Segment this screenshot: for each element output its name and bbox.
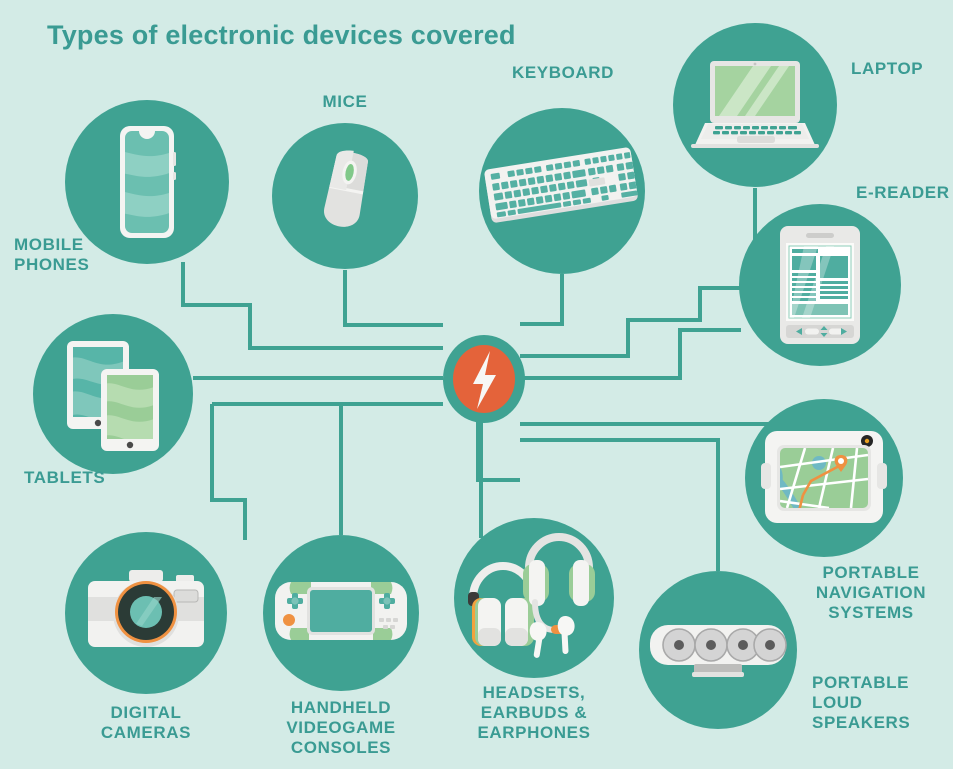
label-loud-speakers: PORTABLE LOUD SPEAKERS — [812, 673, 910, 733]
hub-lightning-bolt-icon — [443, 335, 525, 423]
keyboard-icon — [482, 136, 642, 246]
node-laptop[interactable] — [673, 23, 837, 187]
node-keyboard[interactable] — [479, 108, 645, 274]
node-e-reader[interactable] — [739, 204, 901, 366]
label-mobile-phones: MOBILE PHONES — [14, 235, 89, 275]
label-navigation: PORTABLE NAVIGATION SYSTEMS — [796, 563, 946, 623]
label-headsets: HEADSETS, EARBUDS & EARPHONES — [449, 683, 619, 743]
node-digital-cameras[interactable] — [65, 532, 227, 694]
headphones-icon — [459, 532, 609, 664]
e-reader-icon — [774, 222, 866, 348]
node-navigation[interactable] — [745, 399, 903, 557]
tablets-icon — [53, 335, 173, 453]
gps-navigator-icon — [759, 427, 889, 529]
label-mice: MICE — [305, 92, 385, 112]
node-handheld-consoles[interactable] — [263, 535, 419, 691]
label-laptop: LAPTOP — [851, 59, 923, 79]
node-mice[interactable] — [272, 123, 418, 269]
label-handheld-consoles: HANDHELD VIDEOGAME CONSOLES — [256, 698, 426, 758]
node-loud-speakers[interactable] — [639, 571, 797, 729]
central-hub[interactable] — [443, 335, 525, 423]
label-keyboard: KEYBOARD — [488, 63, 638, 83]
label-digital-cameras: DIGITAL CAMERAS — [66, 703, 226, 743]
label-tablets: TABLETS — [24, 468, 105, 488]
node-mobile-phones[interactable] — [65, 100, 229, 264]
infographic-canvas: Types of electronic devices covered — [0, 0, 953, 769]
label-e-reader: E-READER — [856, 183, 950, 203]
camera-icon — [82, 567, 210, 659]
speaker-bar-icon — [646, 617, 790, 683]
smartphone-icon — [102, 122, 192, 242]
node-headsets[interactable] — [454, 518, 614, 678]
node-tablets[interactable] — [33, 314, 193, 474]
handheld-console-icon — [273, 578, 409, 648]
laptop-icon — [691, 53, 819, 157]
computer-mouse-icon — [299, 146, 391, 246]
